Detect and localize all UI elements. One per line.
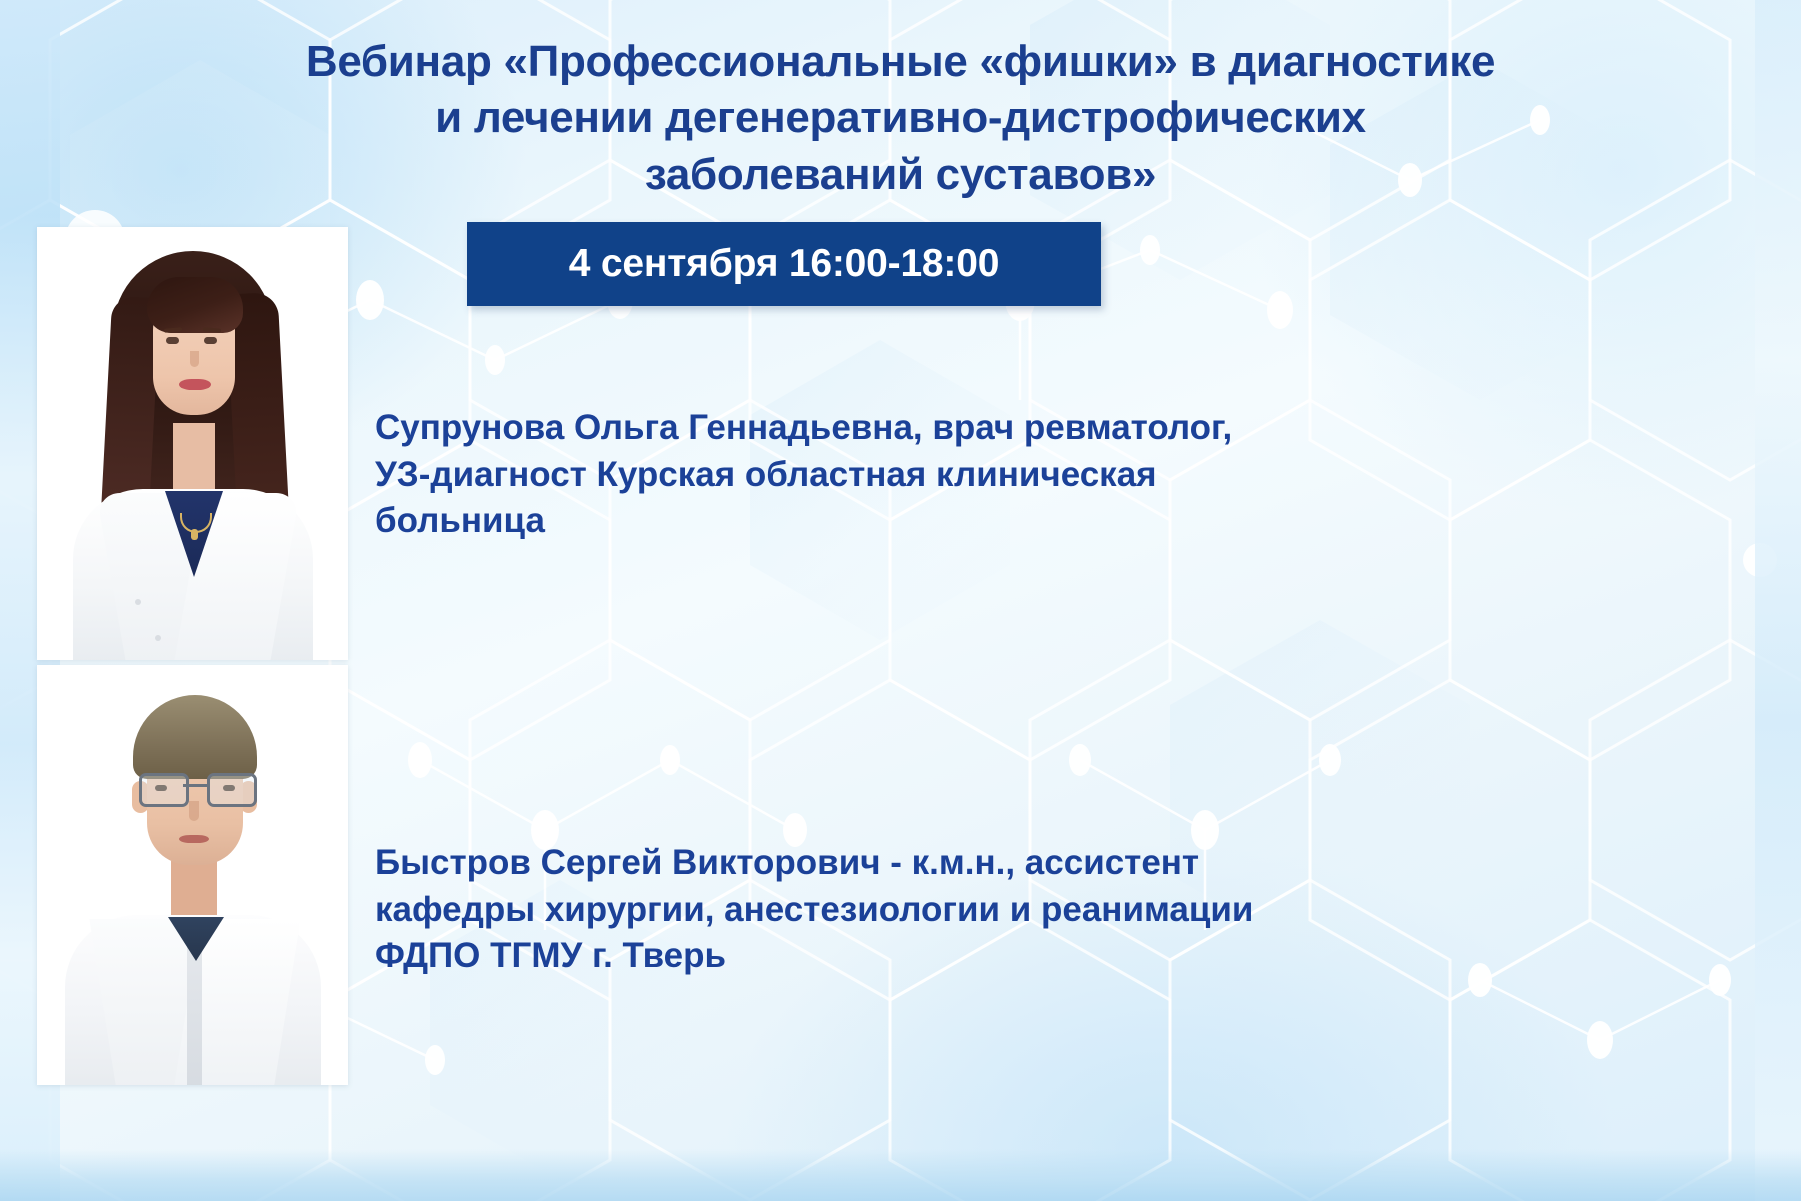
hair-fringe bbox=[147, 277, 243, 333]
speaker-1-description: Супрунова Ольга Геннадьевна, врач ревмат… bbox=[375, 405, 1490, 545]
title-line-3: заболеваний суставов» bbox=[120, 147, 1681, 203]
glasses-lens-right bbox=[207, 773, 257, 807]
speaker-1-photo bbox=[37, 227, 348, 660]
coat-button-2 bbox=[155, 635, 161, 641]
lips-shape bbox=[179, 379, 211, 390]
glasses-icon bbox=[137, 773, 253, 803]
page-title: Вебинар «Профессиональные «фишки» в диаг… bbox=[0, 34, 1801, 203]
date-time-banner: 4 сентября 16:00-18:00 bbox=[467, 222, 1101, 306]
title-line-1: Вебинар «Профессиональные «фишки» в диаг… bbox=[120, 34, 1681, 90]
coat-button-1 bbox=[135, 599, 141, 605]
nose-shape bbox=[189, 801, 199, 821]
webinar-poster: Вебинар «Профессиональные «фишки» в диаг… bbox=[0, 0, 1801, 1201]
speaker-1-line-1: Супрунова Ольга Геннадьевна, врач ревмат… bbox=[375, 405, 1490, 452]
speaker-1-line-3: больница bbox=[375, 498, 1490, 545]
title-line-2: и лечении дегенеративно-дистрофических bbox=[120, 90, 1681, 146]
speaker-2-line-2: кафедры хирургии, анестезиологии и реани… bbox=[375, 887, 1490, 934]
date-time-text: 4 сентября 16:00-18:00 bbox=[569, 242, 999, 286]
eye-right bbox=[204, 337, 217, 344]
speaker-2-line-3: ФДПО ТГМУ г. Тверь bbox=[375, 933, 1490, 980]
speaker-2-description: Быстров Сергей Викторович - к.м.н., асси… bbox=[375, 840, 1490, 980]
bottom-accent-band bbox=[0, 1149, 1801, 1201]
pendant-icon bbox=[191, 529, 198, 540]
hair-shape bbox=[133, 695, 257, 779]
glasses-bridge bbox=[183, 784, 207, 787]
speaker-2-line-1: Быстров Сергей Викторович - к.м.н., асси… bbox=[375, 840, 1490, 887]
nose-shape bbox=[190, 351, 199, 367]
speaker-1-line-2: УЗ-диагност Курская областная клиническа… bbox=[375, 452, 1490, 499]
lips-shape bbox=[179, 835, 209, 843]
speaker-2-photo bbox=[37, 665, 348, 1085]
glasses-lens-left bbox=[139, 773, 189, 807]
eye-left bbox=[166, 337, 179, 344]
